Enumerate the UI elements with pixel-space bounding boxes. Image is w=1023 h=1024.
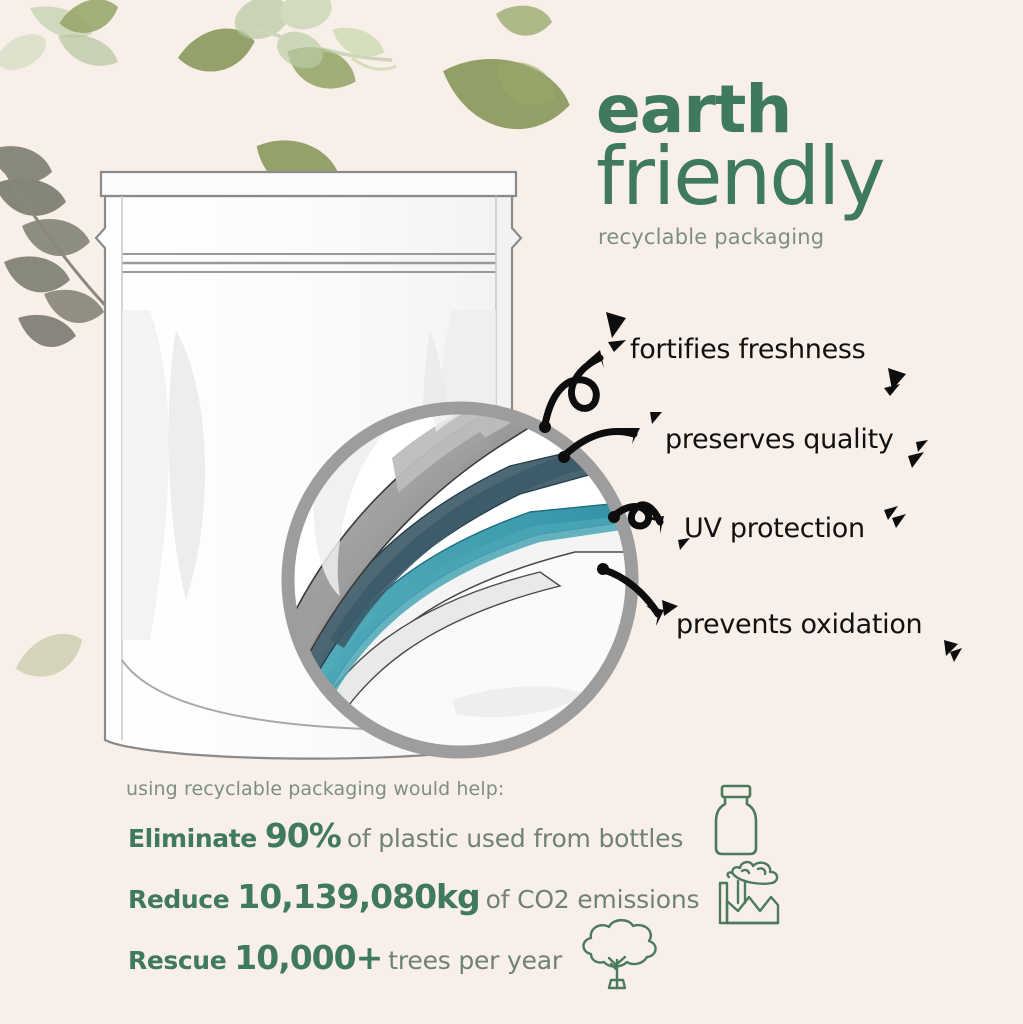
feature-label-preserves-quality: preserves quality <box>665 424 894 455</box>
stat-verb: Reduce <box>128 885 229 914</box>
stat-tail: of CO2 emissions <box>486 885 700 914</box>
headline-subtitle: recyclable packaging <box>598 225 1016 249</box>
stat-verb: Eliminate <box>128 824 257 853</box>
stat-tail: trees per year <box>388 946 562 975</box>
infographic-poster: earth friendly recyclable packaging fort… <box>0 0 1023 1024</box>
factory-icon <box>712 855 786 927</box>
arrow-curl-3 <box>615 505 660 526</box>
tree-icon <box>573 918 661 992</box>
arrow-curve-2 <box>565 432 634 455</box>
stat-tail: of plastic used from bottles <box>347 824 683 853</box>
stat-value: 10,000+ <box>234 938 382 977</box>
bottle-icon <box>708 782 764 858</box>
headline-block: earth friendly recyclable packaging <box>596 78 1016 249</box>
feature-label-fortifies-freshness: fortifies freshness <box>630 334 865 365</box>
stat-value: 90% <box>265 816 341 855</box>
arrow-curl-1 <box>545 358 600 425</box>
feature-label-prevents-oxidation: prevents oxidation <box>676 609 922 640</box>
stat-row: Rescue 10,000+ trees per year <box>128 938 864 977</box>
stat-value: 10,139,080kg <box>237 877 479 916</box>
stat-verb: Rescue <box>128 946 226 975</box>
feature-label-uv-protection: UV protection <box>684 513 865 544</box>
headline-line-friendly: friendly <box>596 139 1016 215</box>
